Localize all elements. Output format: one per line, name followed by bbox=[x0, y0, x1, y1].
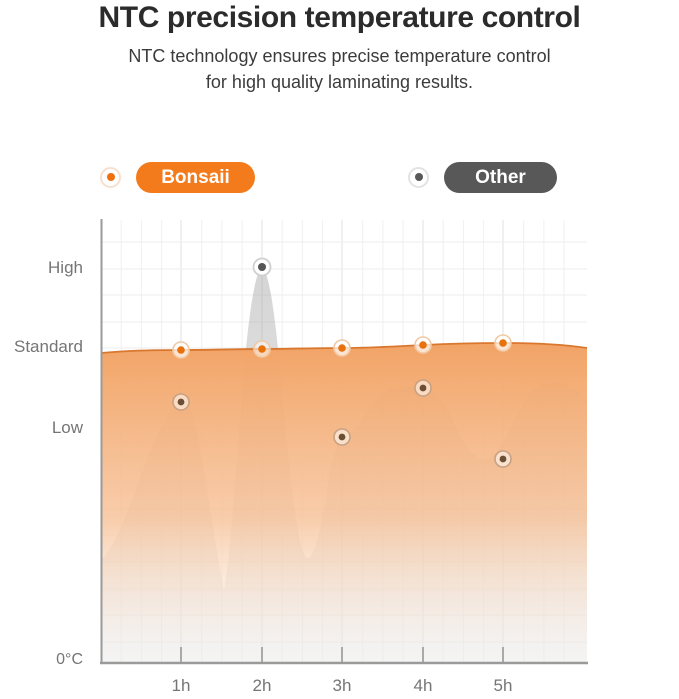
y-axis-label-high: High bbox=[48, 258, 83, 278]
y-axis-label-zero: 0°C bbox=[56, 651, 83, 669]
data-point-other-2h bbox=[254, 259, 271, 276]
data-point-bonsaii-2h bbox=[254, 341, 270, 357]
y-axis-label-standard: Standard bbox=[14, 337, 83, 357]
temperature-chart bbox=[0, 0, 679, 699]
series-area-bonsaii bbox=[101, 343, 587, 662]
x-axis-label-1h: 1h bbox=[161, 676, 201, 696]
x-axis-label-3h: 3h bbox=[322, 676, 362, 696]
data-point-bonsaii-5h bbox=[495, 335, 511, 351]
data-point-other-4h bbox=[415, 380, 431, 396]
data-point-other-5h bbox=[495, 451, 511, 467]
data-point-other-3h bbox=[334, 429, 350, 445]
data-point-bonsaii-4h bbox=[415, 337, 431, 353]
y-axis-label-low: Low bbox=[52, 418, 83, 438]
data-point-other-1h bbox=[173, 394, 189, 410]
x-axis-label-2h: 2h bbox=[242, 676, 282, 696]
data-point-bonsaii-3h bbox=[334, 340, 350, 356]
x-axis-label-4h: 4h bbox=[403, 676, 443, 696]
data-point-bonsaii-1h bbox=[173, 342, 189, 358]
x-axis-label-5h: 5h bbox=[483, 676, 523, 696]
